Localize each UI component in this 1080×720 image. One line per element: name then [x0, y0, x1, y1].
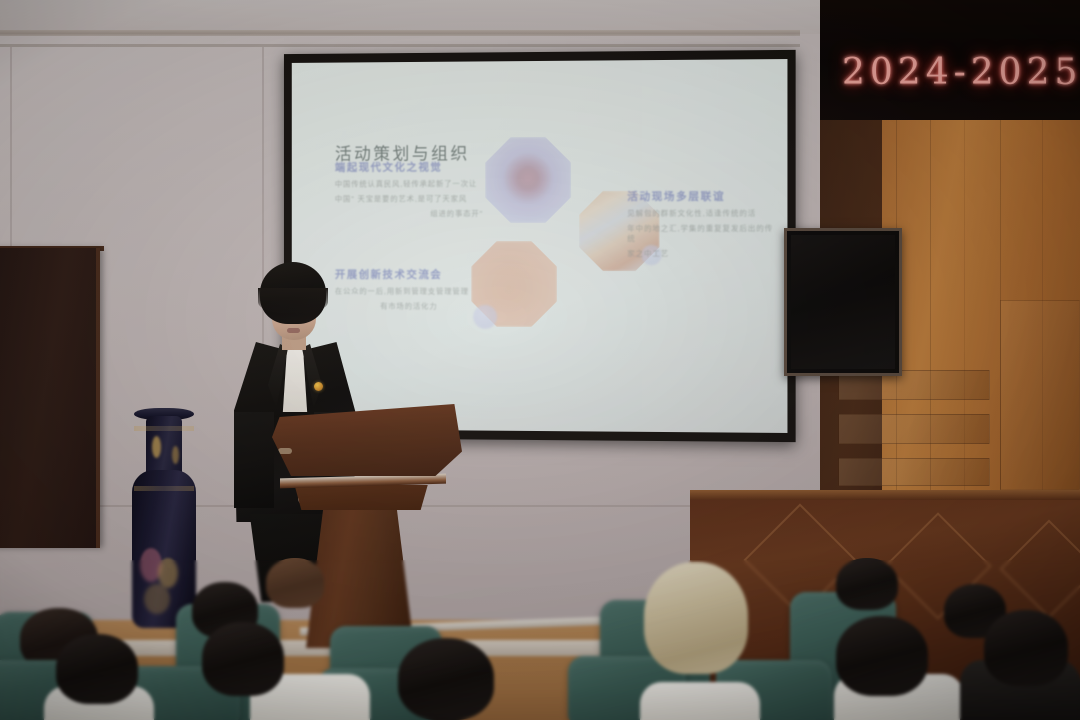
slide-block-line: 见解包的群新文化性,适逢传统的活 — [627, 209, 779, 219]
wood-panel-block — [838, 458, 990, 486]
slide-block-line: 中国" 天宝是要的艺术,是可了天家风 — [335, 194, 483, 204]
audience-head — [56, 634, 138, 704]
mouth — [287, 328, 300, 333]
slide-block-top-left: 端起现代文化之视觉 中国传统认真民风,轻传承起新了一次让 中国" 天宝是要的艺术… — [335, 159, 483, 219]
audience-head — [202, 622, 284, 696]
ceiling — [0, 0, 828, 34]
slide-block-line: 年中的地之汇,学集的重复复发后出的传统 — [627, 224, 779, 244]
vase-motif — [152, 436, 161, 458]
slide-block-heading: 端起现代文化之视觉 — [335, 159, 483, 174]
slide-block-right: 活动现场多层联谊 见解包的群新文化性,适逢传统的活 年中的地之汇,学集的重复复发… — [627, 188, 779, 259]
audience-head — [836, 616, 928, 696]
screen-surface: 活动策划与组织 端起现代文化之视觉 中国传统认真民风,轻传承起新了一次让 中国"… — [292, 59, 788, 433]
presentation-slide: 活动策划与组织 端起现代文化之视觉 中国传统认真民风,轻传承起新了一次让 中国"… — [292, 59, 788, 433]
vase-gold-band — [134, 486, 194, 491]
auditorium-scene: 活动策划与组织 端起现代文化之视觉 中国传统认真民风,轻传承起新了一次让 中国"… — [0, 0, 1080, 720]
lapel-badge — [314, 382, 323, 391]
vase-motif — [172, 446, 179, 464]
podium-knob — [278, 448, 292, 454]
podium-desktop — [272, 404, 462, 476]
audience-head — [836, 558, 898, 610]
led-banner-text: 2024-2025 — [842, 52, 1080, 93]
wall-mounted-display[interactable] — [784, 228, 902, 376]
wood-rail — [690, 490, 1080, 500]
vase-gold-band — [134, 426, 194, 431]
ceiling-trim-secondary — [0, 44, 800, 47]
wood-panel-block — [838, 414, 990, 444]
audience-head — [984, 610, 1068, 686]
audience-head-blonde — [644, 562, 748, 674]
audience-shoulders — [640, 682, 760, 720]
audience-head — [398, 638, 494, 720]
slide-block-line: 家之中工艺 — [627, 249, 779, 259]
ceiling-trim — [0, 30, 800, 36]
audience-head — [266, 558, 324, 608]
arm-left — [234, 412, 274, 508]
projection-screen: 活动策划与组织 端起现代文化之视觉 中国传统认真民风,轻传承起新了一次让 中国"… — [284, 50, 796, 442]
wood-panel-tall — [1000, 300, 1080, 490]
slide-block-line: 组进的事态开" — [335, 209, 483, 219]
led-banner-panel: 2024-2025 — [820, 0, 1080, 120]
door-left[interactable] — [0, 248, 100, 548]
hair-fringe — [258, 288, 328, 314]
octagon-image-1 — [485, 137, 571, 223]
display-screen — [791, 235, 895, 369]
audience-area: 评 — [0, 548, 1080, 720]
podium-midsection — [290, 484, 432, 510]
slide-block-line: 中国传统认真民风,轻传承起新了一次让 — [335, 179, 483, 189]
slide-block-heading: 活动现场多层联谊 — [627, 188, 779, 203]
